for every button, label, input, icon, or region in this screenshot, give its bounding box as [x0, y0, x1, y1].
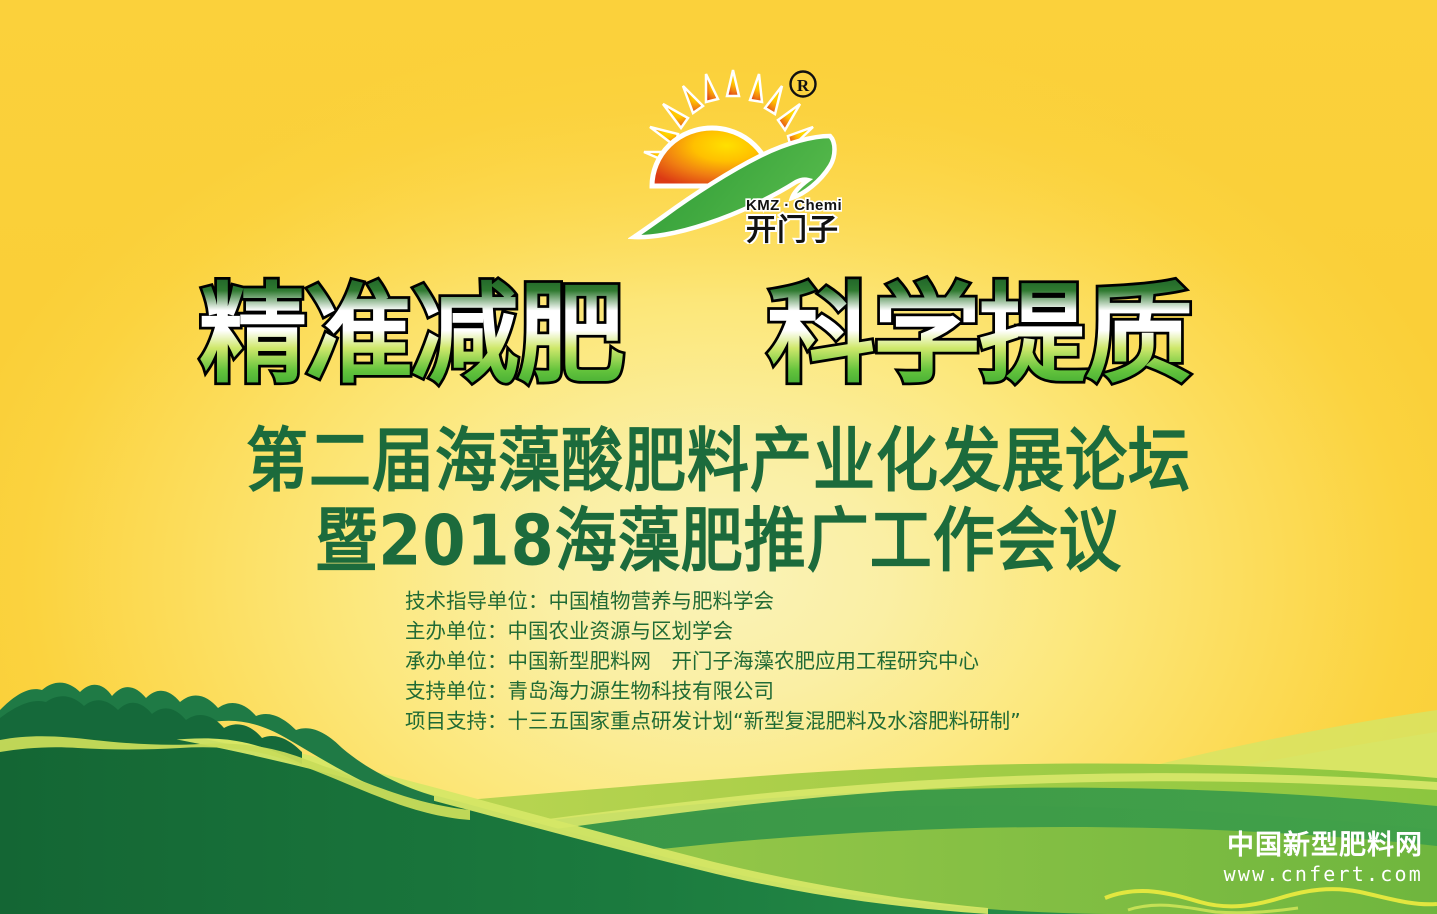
poster-canvas: KMZ · Chemical 开门子 R: [0, 0, 1437, 914]
detail-line-project-support: 项目支持：十三五国家重点研发计划“新型复混肥料及水溶肥料研制”: [405, 706, 1165, 736]
headline-part1: 精准减肥: [199, 273, 623, 396]
watermark: 中国新型肥料网 www.cnfert.com: [1224, 830, 1423, 886]
detail-line-supporter: 支持单位：青岛海力源生物科技有限公司: [405, 676, 1165, 706]
logo-latin-text: KMZ · Chemical: [746, 197, 842, 214]
subtitle-line-2: 暨2018海藻肥推广工作会议: [0, 484, 1437, 585]
detail-line-technical-guidance: 技术指导单位：中国植物营养与肥料学会: [405, 586, 1165, 616]
watermark-site-name: 中国新型肥料网: [1224, 830, 1423, 862]
headline-part2: 科学提质: [767, 273, 1191, 396]
watermark-url: www.cnfert.com: [1224, 862, 1423, 886]
details-block: 技术指导单位：中国植物营养与肥料学会 主办单位：中国农业资源与区划学会 承办单位…: [405, 586, 1165, 736]
company-logo: KMZ · Chemical 开门子 R: [628, 62, 842, 244]
detail-line-organizer: 主办单位：中国农业资源与区划学会: [405, 616, 1165, 646]
detail-line-undertaker: 承办单位：中国新型肥料网 开门子海藻农肥应用工程研究中心: [405, 646, 1165, 676]
svg-text:R: R: [797, 76, 810, 95]
headline: 精准减肥 科学提质: [0, 268, 1437, 394]
logo-chinese-text: 开门子: [746, 213, 839, 244]
registered-trademark-icon: R: [789, 70, 817, 98]
